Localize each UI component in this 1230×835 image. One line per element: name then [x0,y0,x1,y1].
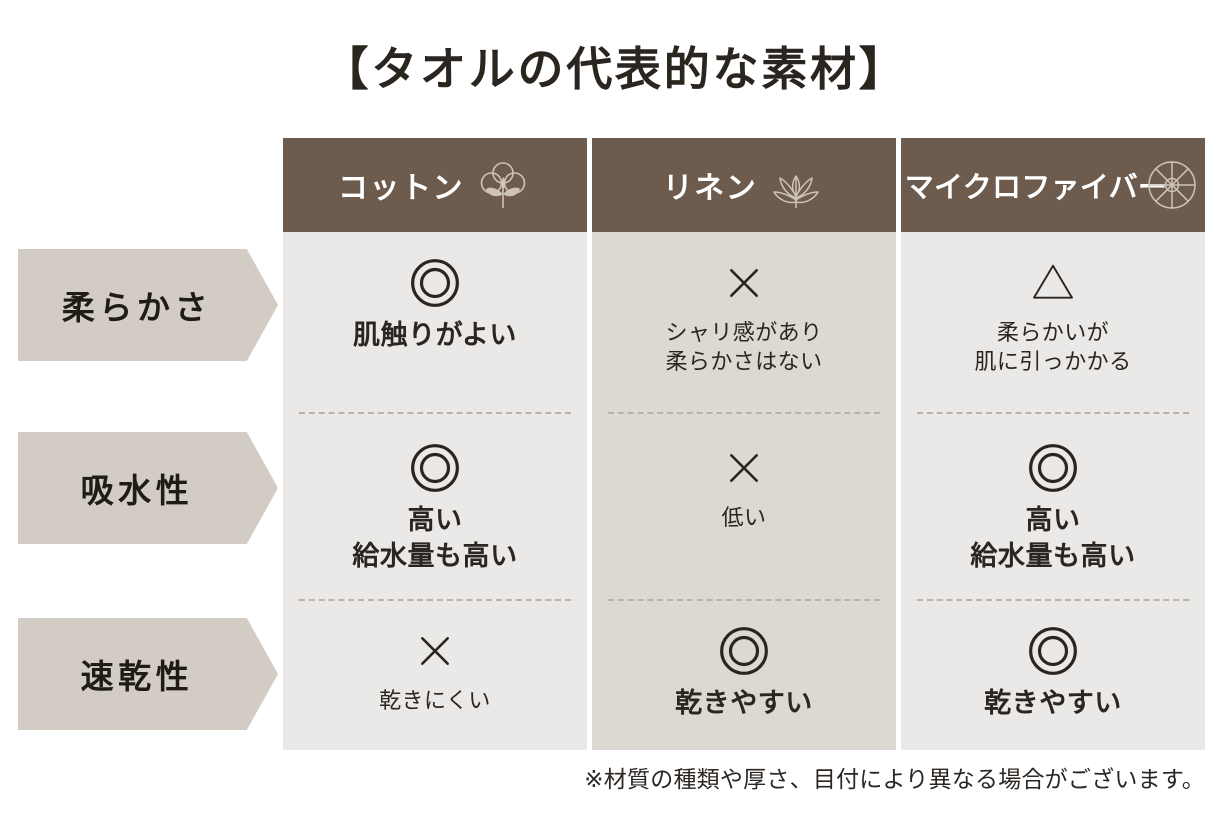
row-divider [608,412,880,414]
cell-cotton-quickdry: 乾きにくい [283,600,587,750]
microfiber-cross-section-icon [1143,156,1201,214]
column-header-label: マイクロファイバー [905,164,1167,206]
row-label-quickdry: 速乾性 [18,618,278,730]
column-header-cotton: コットン [283,138,587,232]
cell-microfiber-absorbency: 高い 給水量も高い [901,413,1205,599]
row-label-softness: 柔らかさ [18,249,278,361]
row-divider [917,412,1189,414]
material-column-microfiber: マイクロファイバー 柔らかいが 肌に引っかかる [901,138,1205,750]
rating-excellent-icon [1026,439,1080,497]
cotton-boll-icon [474,156,532,214]
material-comparison-table: コットン 肌触りがよい [283,138,1205,750]
row-label-absorbency: 吸水性 [18,432,278,544]
cell-description: 低い [722,503,767,532]
footnote-text: ※材質の種類や厚さ、目付により異なる場合がございます。 [0,760,1205,794]
rating-excellent-icon [717,622,771,680]
rating-excellent-icon [408,439,462,497]
page-title: 【タオルの代表的な素材】 [0,44,1230,95]
row-divider [917,599,1189,601]
hemp-leaf-icon [767,156,825,214]
material-column-cotton: コットン 肌触りがよい [283,138,587,750]
rating-excellent-icon [408,254,462,312]
column-header-label: コットン [338,163,464,207]
cell-linen-softness: シャリ感があり 柔らかさはない [592,232,896,412]
row-divider [608,599,880,601]
cell-description: 高い 給水量も高い [970,503,1135,574]
row-label-text: 吸水性 [81,464,216,512]
rating-poor-icon [721,254,767,312]
rating-poor-icon [721,439,767,497]
cell-microfiber-softness: 柔らかいが 肌に引っかかる [901,232,1205,412]
cell-linen-absorbency: 低い [592,413,896,599]
cell-description: 高い 給水量も高い [352,503,517,574]
row-label-text: 速乾性 [81,650,216,698]
column-header-microfiber: マイクロファイバー [901,138,1205,232]
cell-description: 乾きやすい [984,686,1122,722]
column-header-label: リネン [663,163,758,207]
material-column-linen: リネン シャリ感があり 柔らかさはない [592,138,896,750]
cell-linen-quickdry: 乾きやすい [592,600,896,750]
rating-excellent-icon [1026,622,1080,680]
row-divider [299,599,571,601]
row-divider [299,412,571,414]
cell-description: 乾きやすい [675,686,813,722]
cell-description: 肌触りがよい [353,318,517,354]
cell-cotton-softness: 肌触りがよい [283,232,587,412]
cell-description: シャリ感があり 柔らかさはない [665,318,822,376]
cell-description: 柔らかいが 肌に引っかかる [974,318,1131,376]
row-label-text: 柔らかさ [62,281,234,329]
cell-microfiber-quickdry: 乾きやすい [901,600,1205,750]
rating-fair-icon [1028,254,1078,312]
rating-poor-icon [412,622,458,680]
column-header-linen: リネン [592,138,896,232]
cell-description: 乾きにくい [379,686,491,715]
cell-cotton-absorbency: 高い 給水量も高い [283,413,587,599]
